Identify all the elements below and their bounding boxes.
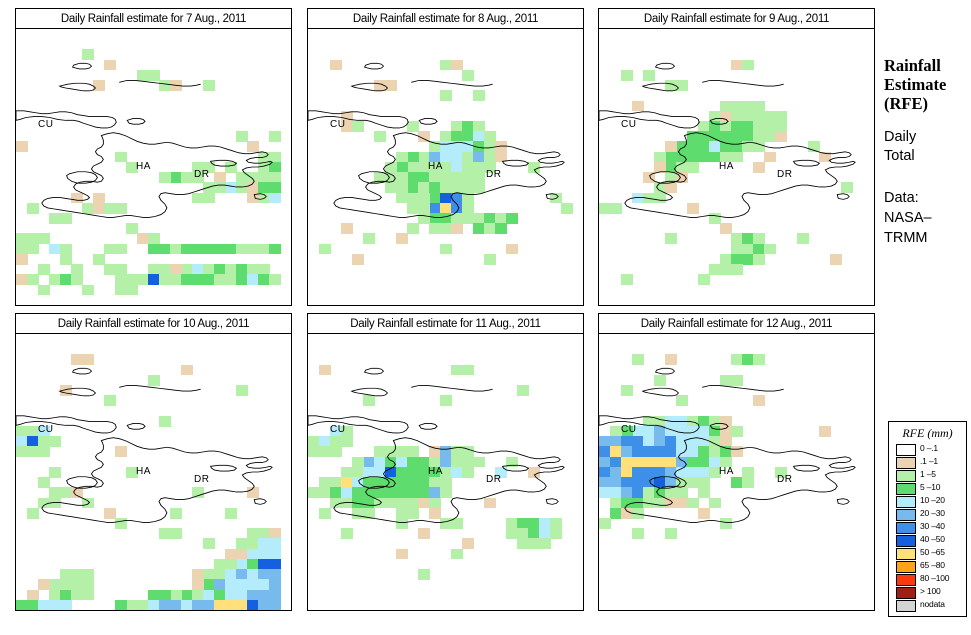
- legend-swatch-12: [896, 600, 916, 612]
- country-label-cu: CU: [38, 119, 53, 130]
- map-area-4[interactable]: CUHADR: [307, 333, 584, 611]
- map-area-1[interactable]: CUHADR: [307, 28, 584, 306]
- panel-2011-08-09: Daily Rainfall estimate for 9 Aug., 2011…: [598, 8, 875, 306]
- coastline-overlay: [599, 334, 874, 610]
- legend-label-12: nodata: [920, 599, 945, 609]
- country-label-dr: DR: [194, 169, 209, 180]
- coastline-overlay: [308, 334, 583, 610]
- country-label-dr: DR: [777, 169, 792, 180]
- country-label-ha: HA: [719, 161, 734, 172]
- legend-swatch-6: [896, 522, 916, 534]
- legend-entry-3: 5 –10: [896, 483, 966, 495]
- legend-entry-6: 30 –40: [896, 522, 966, 534]
- legend-entry-5: 20 –30: [896, 509, 966, 521]
- legend-title: RFE (mm): [889, 426, 966, 441]
- coastline-overlay: [16, 29, 291, 305]
- legend-entry-1: .1 –1: [896, 457, 966, 469]
- map-area-3[interactable]: CUHADR: [15, 333, 292, 611]
- legend-swatch-10: [896, 574, 916, 586]
- figure-title-line-0: Rainfall: [884, 56, 971, 75]
- legend-label-0: 0 –.1: [920, 443, 938, 453]
- country-label-ha: HA: [428, 466, 443, 477]
- legend-label-4: 10 –20: [920, 495, 945, 505]
- panel-title-10-aug-2011: Daily Rainfall estimate for 10 Aug., 201…: [15, 313, 292, 334]
- legend-label-7: 40 –50: [920, 534, 945, 544]
- panel-2011-08-07: Daily Rainfall estimate for 7 Aug., 2011…: [15, 8, 292, 306]
- legend-entry-9: 65 –80: [896, 561, 966, 573]
- panel-title-9-aug-2011: Daily Rainfall estimate for 9 Aug., 2011: [598, 8, 875, 29]
- figure-title-line-1: Estimate: [884, 75, 971, 94]
- map-area-2[interactable]: CUHADR: [598, 28, 875, 306]
- legend-entry-10: 80 –100: [896, 574, 966, 586]
- figure-data-source-line-0: Data:: [884, 188, 971, 208]
- legend-label-3: 5 –10: [920, 482, 940, 492]
- country-label-ha: HA: [136, 161, 151, 172]
- legend-entry-2: 1 –5: [896, 470, 966, 482]
- panel-2011-08-08: Daily Rainfall estimate for 8 Aug., 2011…: [307, 8, 584, 306]
- country-label-cu: CU: [38, 424, 53, 435]
- legend-swatch-9: [896, 561, 916, 573]
- figure-data-source-line-1: NASA–: [884, 208, 971, 228]
- panel-2011-08-11: Daily Rainfall estimate for 11 Aug., 201…: [307, 313, 584, 611]
- coastline-overlay: [599, 29, 874, 305]
- figure-subtitle: DailyTotal: [884, 128, 971, 166]
- legend-entry-4: 10 –20: [896, 496, 966, 508]
- legend-swatch-8: [896, 548, 916, 560]
- panel-title-8-aug-2011: Daily Rainfall estimate for 8 Aug., 2011: [307, 8, 584, 29]
- country-label-dr: DR: [777, 474, 792, 485]
- country-label-dr: DR: [486, 169, 501, 180]
- legend-label-5: 20 –30: [920, 508, 945, 518]
- legend-label-11: > 100: [920, 586, 941, 596]
- legend-label-1: .1 –1: [920, 456, 938, 466]
- legend-label-8: 50 –65: [920, 547, 945, 557]
- legend-label-6: 30 –40: [920, 521, 945, 531]
- legend-label-10: 80 –100: [920, 573, 949, 583]
- panel-title-11-aug-2011: Daily Rainfall estimate for 11 Aug., 201…: [307, 313, 584, 334]
- country-label-ha: HA: [719, 466, 734, 477]
- figure-subtitle-line-1: Total: [884, 147, 971, 166]
- legend-entry-11: > 100: [896, 587, 966, 599]
- country-label-cu: CU: [621, 119, 636, 130]
- map-area-0[interactable]: CUHADR: [15, 28, 292, 306]
- legend-entry-7: 40 –50: [896, 535, 966, 547]
- legend-swatch-4: [896, 496, 916, 508]
- legend-swatch-1: [896, 457, 916, 469]
- figure-title: RainfallEstimate(RFE): [884, 56, 971, 113]
- panel-2011-08-10: Daily Rainfall estimate for 10 Aug., 201…: [15, 313, 292, 611]
- legend-swatch-2: [896, 470, 916, 482]
- legend-swatch-7: [896, 535, 916, 547]
- legend-swatch-0: [896, 444, 916, 456]
- country-label-ha: HA: [428, 161, 443, 172]
- legend-swatch-3: [896, 483, 916, 495]
- legend-swatch-11: [896, 587, 916, 599]
- panel-2011-08-12: Daily Rainfall estimate for 12 Aug., 201…: [598, 313, 875, 611]
- legend-label-2: 1 –5: [920, 469, 936, 479]
- legend-label-9: 65 –80: [920, 560, 945, 570]
- legend-swatch-5: [896, 509, 916, 521]
- legend-entry-12: nodata: [896, 600, 966, 612]
- coastline-overlay: [16, 334, 291, 610]
- figure-data-source-line-2: TRMM: [884, 228, 971, 248]
- figure-data-source: Data:NASA–TRMM: [884, 188, 971, 248]
- country-label-cu: CU: [330, 119, 345, 130]
- country-label-cu: CU: [621, 424, 636, 435]
- country-label-dr: DR: [194, 474, 209, 485]
- figure-subtitle-line-0: Daily: [884, 128, 971, 147]
- country-label-ha: HA: [136, 466, 151, 477]
- figure-title-line-2: (RFE): [884, 94, 971, 113]
- country-label-cu: CU: [330, 424, 345, 435]
- legend-box: RFE (mm) 0 –.1.1 –11 –55 –1010 –2020 –30…: [888, 421, 967, 617]
- panel-title-12-aug-2011: Daily Rainfall estimate for 12 Aug., 201…: [598, 313, 875, 334]
- country-label-dr: DR: [486, 474, 501, 485]
- coastline-overlay: [308, 29, 583, 305]
- map-area-5[interactable]: CUHADR: [598, 333, 875, 611]
- legend-entry-8: 50 –65: [896, 548, 966, 560]
- legend-entry-0: 0 –.1: [896, 444, 966, 456]
- panel-title-7-aug-2011: Daily Rainfall estimate for 7 Aug., 2011: [15, 8, 292, 29]
